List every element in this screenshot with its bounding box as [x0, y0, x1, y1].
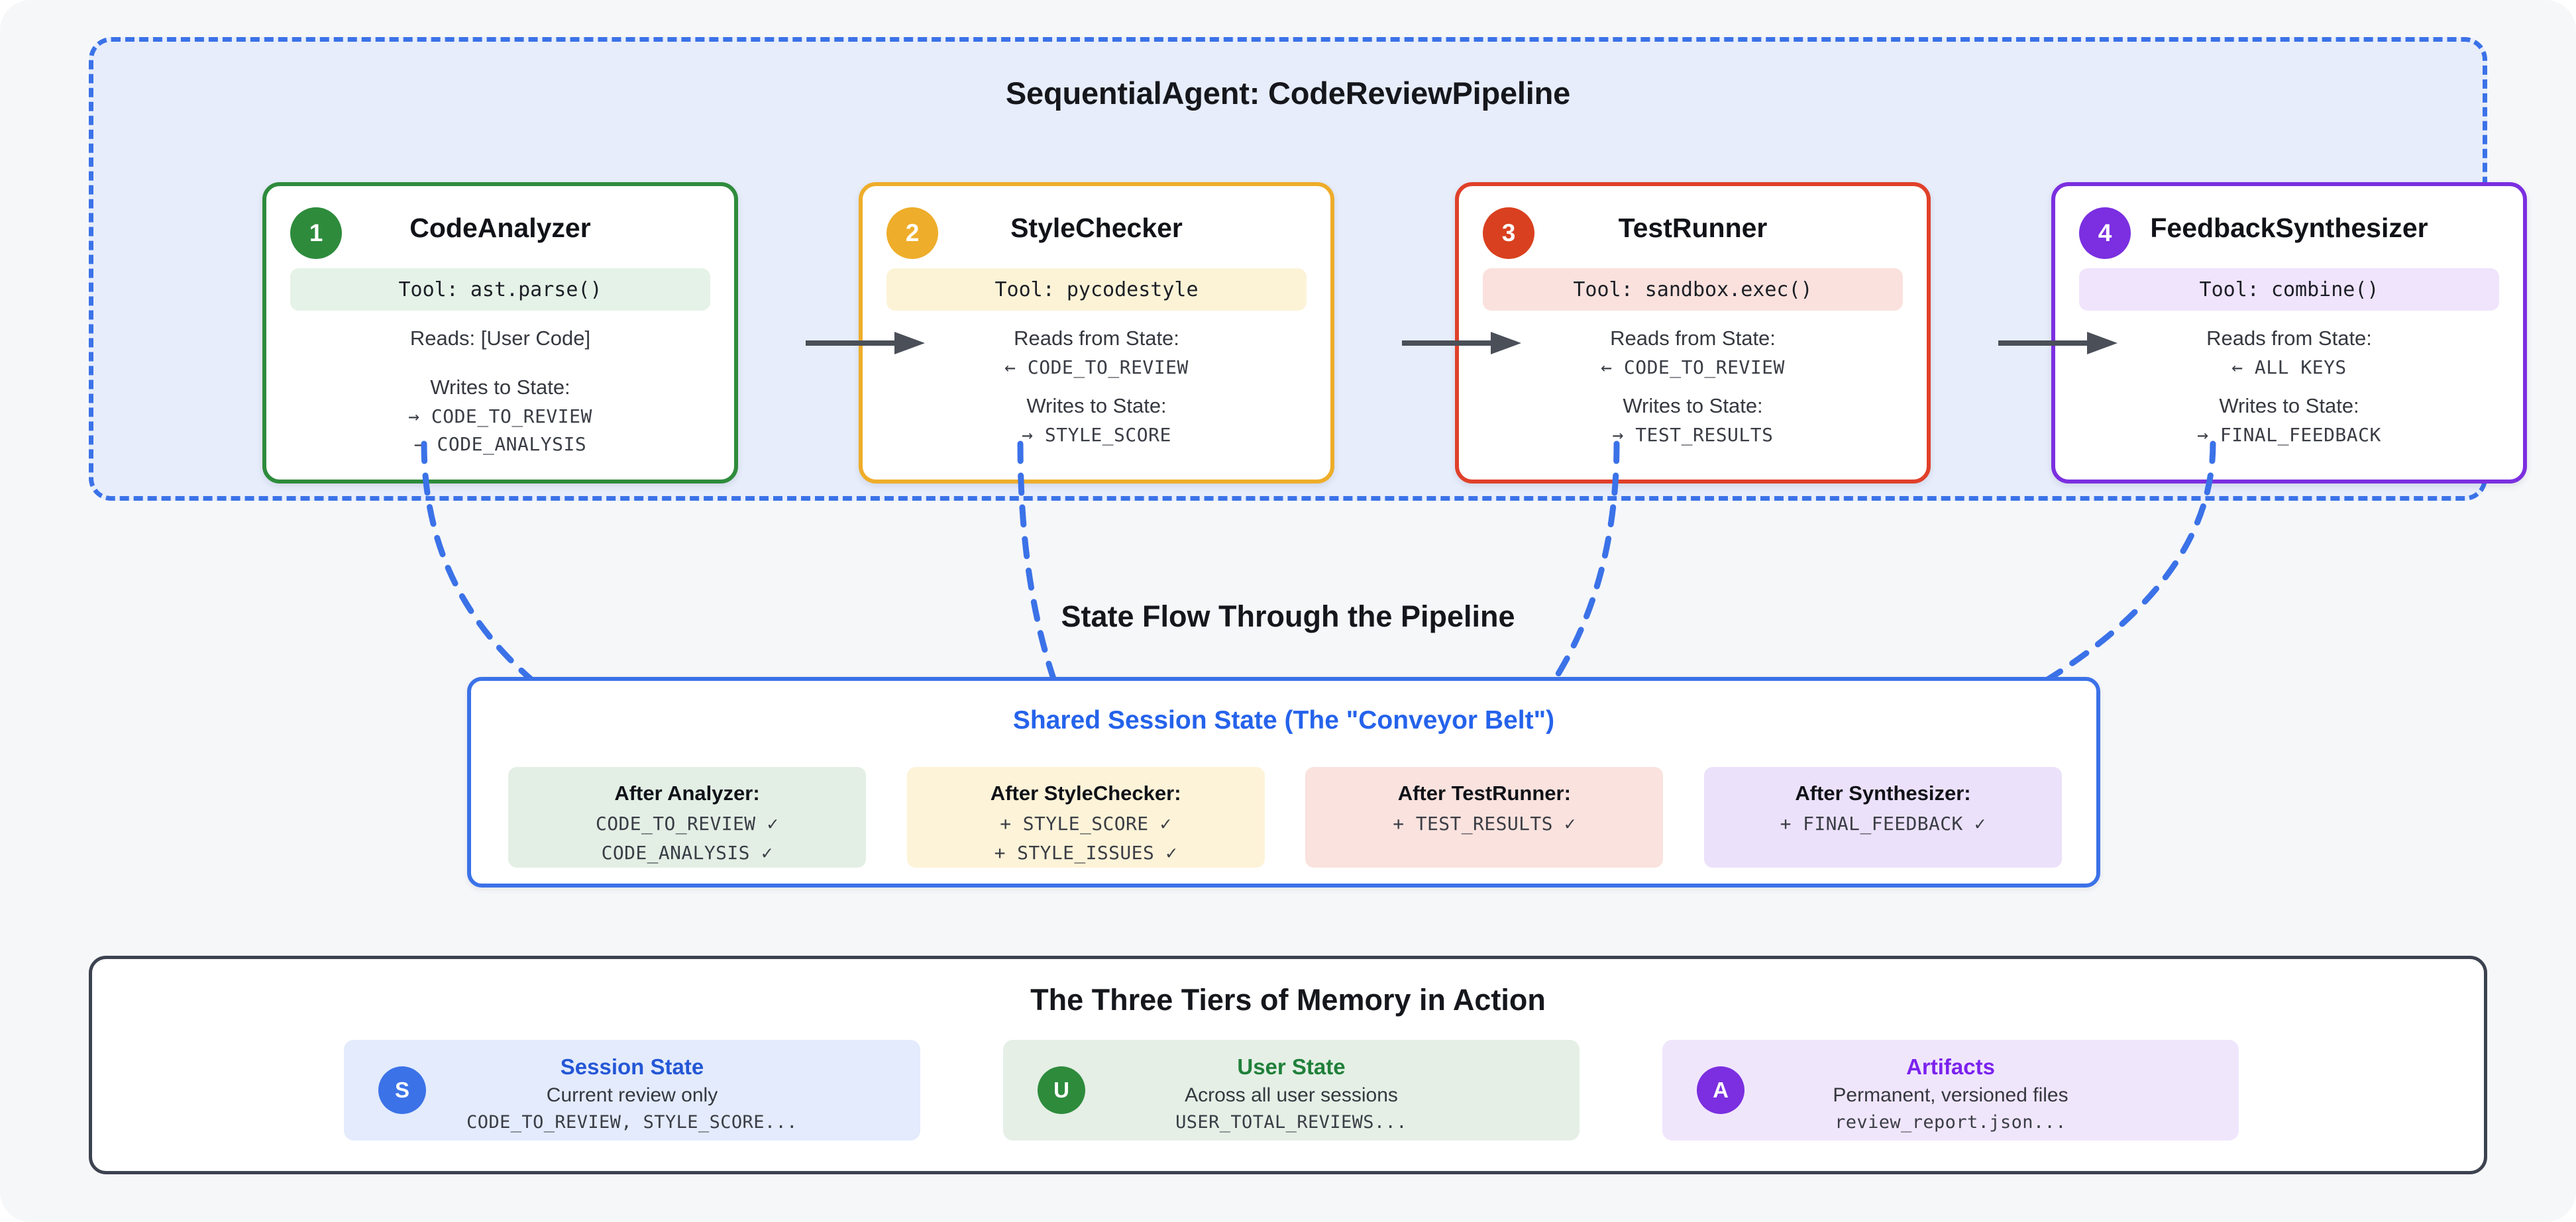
flow-arrow-icon: [806, 330, 926, 356]
memory-tier-artifacts[interactable]: A Artifacts Permanent, versioned files r…: [1662, 1040, 2239, 1141]
agent-read-key: ← CODE_TO_REVIEW: [863, 356, 1330, 378]
pipeline-container: SequentialAgent: CodeReviewPipeline 1 Co…: [89, 37, 2487, 501]
agent-reads-label: Reads: [User Code]: [266, 327, 734, 350]
memory-tier-row: S Session State Current review only CODE…: [344, 1040, 2239, 1141]
agent-read-key: ← CODE_TO_REVIEW: [1459, 356, 1927, 378]
agent-name: StyleChecker: [863, 213, 1330, 244]
state-chip-key: + FINAL_FEEDBACK ✓: [1704, 813, 2062, 835]
agent-tool-chip: Tool: sandbox.exec(): [1483, 268, 1903, 311]
diagram-canvas: SequentialAgent: CodeReviewPipeline 1 Co…: [0, 0, 2576, 1222]
agent-write-key: → FINAL_FEEDBACK: [2055, 424, 2523, 446]
memory-tier-title: Session State: [344, 1054, 920, 1080]
flow-arrow-icon: [1998, 330, 2119, 356]
agent-tool-chip: Tool: ast.parse(): [290, 268, 710, 311]
state-chip-title: After Synthesizer:: [1704, 782, 2062, 805]
agent-card-header: 4 FeedbackSynthesizer: [2055, 186, 2523, 268]
agent-reads-label: Reads from State:: [863, 327, 1330, 350]
agent-write-key: → CODE_ANALYSIS: [266, 433, 734, 455]
state-chip-key: + TEST_RESULTS ✓: [1305, 813, 1663, 835]
agent-card-style-checker[interactable]: 2 StyleChecker Tool: pycodestyle Reads f…: [859, 182, 1334, 484]
state-chip-after-stylechecker[interactable]: After StyleChecker: + STYLE_SCORE ✓ + ST…: [907, 767, 1265, 868]
agent-writes-label: Writes to State:: [266, 376, 734, 399]
agent-write-key: → STYLE_SCORE: [863, 424, 1330, 446]
user-state-badge-icon: U: [1038, 1066, 1085, 1114]
memory-tiers-panel: The Three Tiers of Memory in Action S Se…: [89, 956, 2487, 1174]
agent-card-header: 3 TestRunner: [1459, 186, 1927, 268]
state-flow-heading: State Flow Through the Pipeline: [0, 599, 2576, 634]
state-chip-after-analyzer[interactable]: After Analyzer: CODE_TO_REVIEW ✓ CODE_AN…: [508, 767, 866, 868]
memory-tier-session-state[interactable]: S Session State Current review only CODE…: [344, 1040, 920, 1141]
agent-name: FeedbackSynthesizer: [2055, 213, 2523, 244]
agent-card-test-runner[interactable]: 3 TestRunner Tool: sandbox.exec() Reads …: [1455, 182, 1931, 484]
agent-reads-label: Reads from State:: [2055, 327, 2523, 350]
agent-writes-label: Writes to State:: [2055, 394, 2523, 418]
agent-write-key: → TEST_RESULTS: [1459, 424, 1927, 446]
agent-card-row: 1 CodeAnalyzer Tool: ast.parse() Reads: …: [262, 182, 2515, 484]
session-state-badge-icon: S: [378, 1066, 426, 1114]
artifacts-badge-icon: A: [1697, 1066, 1744, 1114]
agent-reads-label: Reads from State:: [1459, 327, 1927, 350]
agent-write-key: → CODE_TO_REVIEW: [266, 405, 734, 427]
agent-writes-label: Writes to State:: [1459, 394, 1927, 418]
agent-card-header: 2 StyleChecker: [863, 186, 1330, 268]
agent-name: CodeAnalyzer: [266, 213, 734, 244]
agent-tool-chip: Tool: combine(): [2079, 268, 2499, 311]
state-chip-key: CODE_ANALYSIS ✓: [508, 842, 866, 864]
state-chip-title: After Analyzer:: [508, 782, 866, 805]
memory-tiers-heading: The Three Tiers of Memory in Action: [92, 983, 2484, 1017]
memory-tier-subtitle: Current review only: [344, 1084, 920, 1107]
state-chip-row: After Analyzer: CODE_TO_REVIEW ✓ CODE_AN…: [508, 767, 2062, 868]
state-chip-title: After TestRunner:: [1305, 782, 1663, 805]
memory-tier-keys: review_report.json...: [1662, 1112, 2239, 1133]
agent-read-key: ← ALL KEYS: [2055, 356, 2523, 378]
pipeline-title: SequentialAgent: CodeReviewPipeline: [93, 75, 2483, 111]
memory-tier-user-state[interactable]: U User State Across all user sessions US…: [1003, 1040, 1580, 1141]
agent-card-header: 1 CodeAnalyzer: [266, 186, 734, 268]
agent-writes-label: Writes to State:: [863, 394, 1330, 418]
memory-tier-title: Artifacts: [1662, 1054, 2239, 1080]
shared-session-state-title: Shared Session State (The "Conveyor Belt…: [471, 706, 2096, 735]
state-chip-after-testrunner[interactable]: After TestRunner: + TEST_RESULTS ✓: [1305, 767, 1663, 868]
flow-arrow-icon: [1402, 330, 1523, 356]
memory-tier-keys: CODE_TO_REVIEW, STYLE_SCORE...: [344, 1112, 920, 1133]
state-chip-key: + STYLE_ISSUES ✓: [907, 842, 1265, 864]
agent-card-feedback-synthesizer[interactable]: 4 FeedbackSynthesizer Tool: combine() Re…: [2051, 182, 2527, 484]
agent-tool-chip: Tool: pycodestyle: [886, 268, 1307, 311]
state-chip-key: + STYLE_SCORE ✓: [907, 813, 1265, 835]
state-chip-key: CODE_TO_REVIEW ✓: [508, 813, 866, 835]
shared-session-state-panel: Shared Session State (The "Conveyor Belt…: [467, 677, 2100, 888]
memory-tier-title: User State: [1003, 1054, 1580, 1080]
agent-name: TestRunner: [1459, 213, 1927, 244]
agent-card-code-analyzer[interactable]: 1 CodeAnalyzer Tool: ast.parse() Reads: …: [262, 182, 738, 484]
memory-tier-subtitle: Permanent, versioned files: [1662, 1084, 2239, 1107]
state-chip-title: After StyleChecker:: [907, 782, 1265, 805]
state-chip-after-synthesizer[interactable]: After Synthesizer: + FINAL_FEEDBACK ✓: [1704, 767, 2062, 868]
memory-tier-subtitle: Across all user sessions: [1003, 1084, 1580, 1107]
memory-tier-keys: USER_TOTAL_REVIEWS...: [1003, 1112, 1580, 1133]
